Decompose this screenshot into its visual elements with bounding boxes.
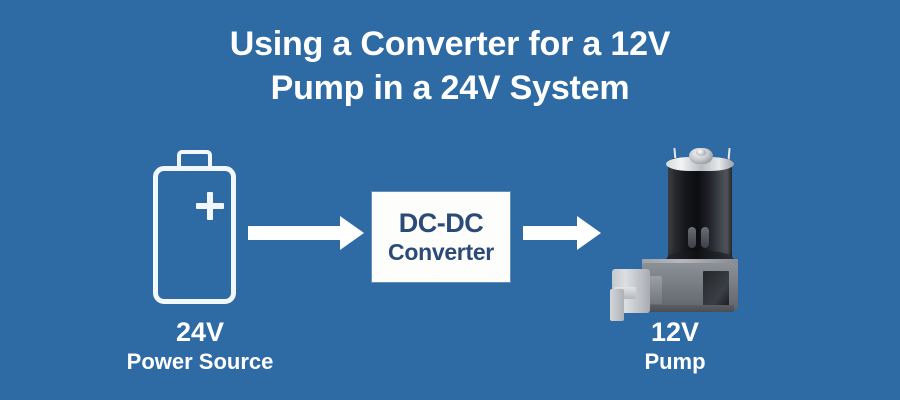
caption-pump: 12V Pump — [570, 318, 780, 374]
converter-label-line-2: Converter — [388, 240, 494, 265]
converter-label-line-1: DC-DC — [399, 209, 484, 238]
arrow-source-to-converter-icon — [248, 216, 364, 250]
title-line-1: Using a Converter for a 12V — [0, 22, 900, 66]
pump-housing-cavity — [703, 271, 729, 307]
pump-vent-slot — [688, 227, 696, 248]
arrow-shaft — [523, 226, 579, 240]
pump-motor-cylinder — [668, 158, 732, 265]
battery-plus-icon — [196, 192, 224, 220]
pump-head-bracket-arm — [610, 289, 624, 321]
battery-icon — [142, 150, 258, 308]
arrow-head — [340, 216, 364, 250]
caption-pump-label: Pump — [570, 350, 780, 374]
caption-power-source: 24V Power Source — [80, 318, 320, 374]
pump-housing-foot — [646, 305, 734, 312]
title-line-2: Pump in a 24V System — [0, 66, 900, 110]
pump-photo — [600, 145, 752, 315]
infographic-canvas: Using a Converter for a 12V Pump in a 24… — [0, 0, 900, 400]
battery-body-icon — [153, 166, 236, 304]
dc-dc-converter-box: DC-DC Converter — [372, 192, 510, 282]
caption-pump-value: 12V — [570, 318, 780, 347]
caption-power-source-value: 24V — [80, 318, 320, 347]
arrow-shaft — [248, 226, 342, 240]
pump-motor-cap-boss — [696, 149, 706, 156]
caption-power-source-label: Power Source — [80, 350, 320, 374]
arrow-head — [577, 216, 601, 250]
arrow-converter-to-pump-icon — [523, 216, 601, 250]
page-title: Using a Converter for a 12V Pump in a 24… — [0, 22, 900, 110]
pump-vent-slot — [701, 227, 709, 248]
